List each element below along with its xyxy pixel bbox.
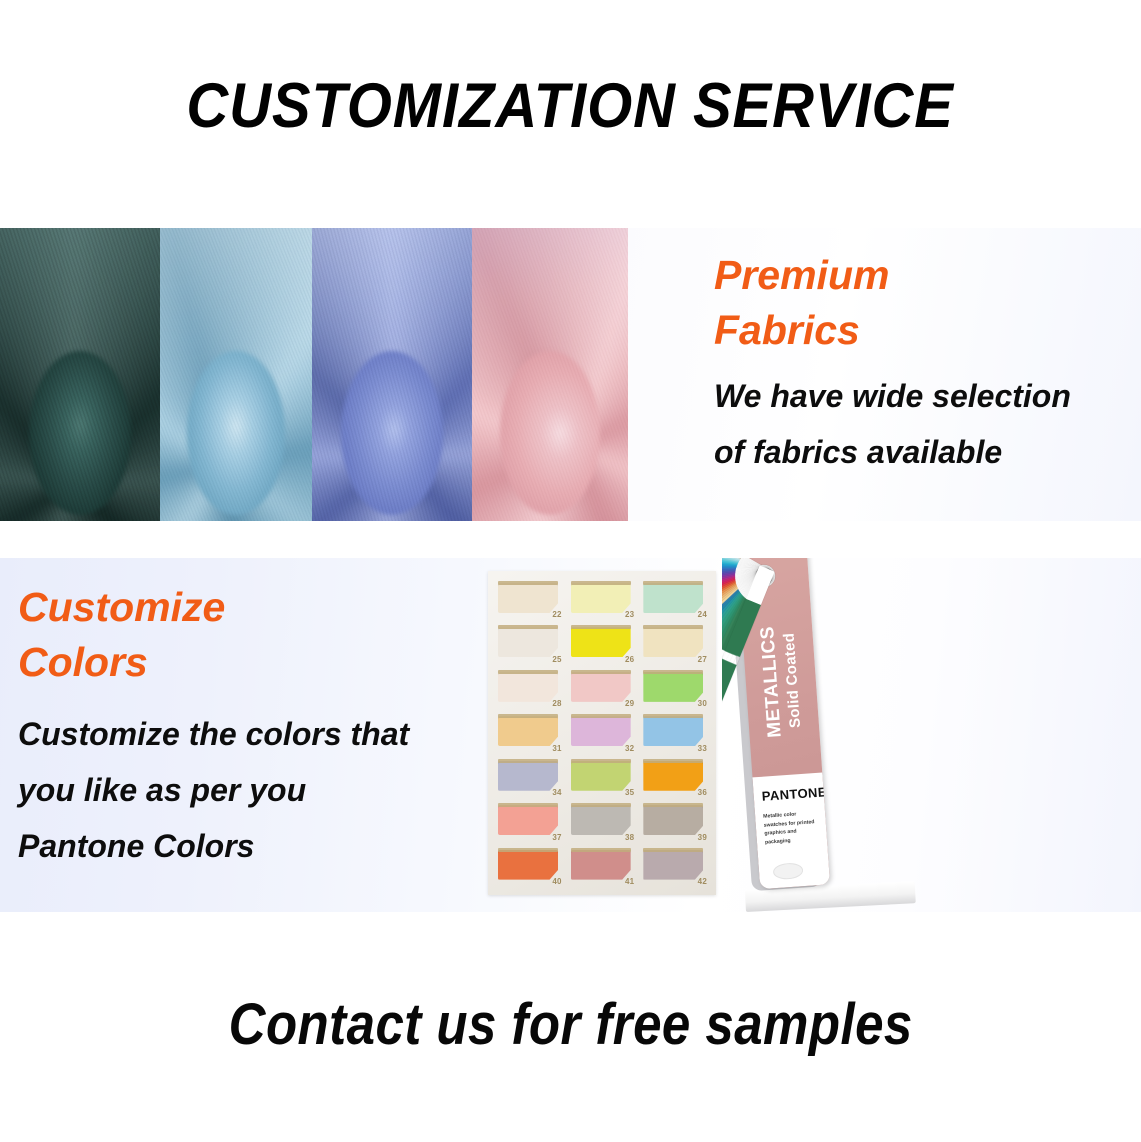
swatch-chip-color [498,627,558,657]
swatch-chip-tab [571,848,631,852]
swatch-chip-number: 32 [625,744,634,753]
fabric-swatch-periwinkle-blue-fabric [312,228,472,521]
swatch-chip-tab [498,581,558,585]
premium-fabrics-heading: Premium Fabrics [714,248,889,357]
swatch-chip-color [498,672,558,702]
swatch-chip-34: 34 [496,759,563,796]
customize-colors-body-line3: Pantone Colors [18,818,488,874]
footer-cta-text: Contact us for free samples [228,996,912,1054]
premium-fabrics-body-line1: We have wide selection [714,368,1126,424]
swatch-chip-26: 26 [569,625,636,662]
premium-fabrics-heading-line1: Premium [714,248,889,303]
swatch-chip-38: 38 [569,803,636,840]
swatch-chip-tab [643,670,703,674]
swatch-chip-tab [643,848,703,852]
pantone-wordmark: PANTONE [761,784,827,804]
fabric-swirl-texture [0,228,160,521]
swatch-chip-23: 23 [569,581,636,618]
swatch-chip-color [498,850,558,880]
swatch-chip-40: 40 [496,848,563,885]
swatch-chip-color [643,716,703,746]
customize-colors-heading-line1: Customize [18,580,225,635]
fan-cover-vertical-title: METALLICS Solid Coated [757,624,805,738]
pantone-color-swatch-card: 2223242526272829303132333435363738394041… [488,571,716,895]
footer-cta: Contact us for free samples [0,985,1141,1065]
swatch-chip-color [571,716,631,746]
fabric-swatch-dusty-pink-fabric [472,228,628,521]
swatch-chip-tab [571,759,631,763]
swatch-chip-color [643,627,703,657]
swatch-chip-32: 32 [569,714,636,751]
swatch-chip-color [571,583,631,613]
swatch-chip-29: 29 [569,670,636,707]
swatch-chip-color [498,805,558,835]
swatch-chip-39: 39 [641,803,708,840]
swatch-chip-tab [643,759,703,763]
fan-cover-subtext: Metallic color swatches for printed grap… [763,809,819,847]
swatch-chip-color [498,583,558,613]
fabric-swatch-light-sky-blue-fabric [160,228,312,521]
swatch-chip-28: 28 [496,670,563,707]
swatch-chip-number: 27 [698,655,707,664]
swatch-chip-tab [571,581,631,585]
swatch-chip-31: 31 [496,714,563,751]
swatch-chip-22: 22 [496,581,563,618]
swatch-chip-tab [643,714,703,718]
customize-colors-body-line2: you like as per you [18,762,488,818]
swatch-chip-42: 42 [641,848,708,885]
fabric-weave-layer [472,228,628,521]
swatch-chip-number: 30 [698,699,707,708]
swatch-chip-color [571,761,631,791]
swatch-chip-number: 35 [625,788,634,797]
swatch-chip-number: 34 [552,788,561,797]
customize-colors-body-line1: Customize the colors that [18,706,488,762]
swatch-chip-tab [571,670,631,674]
swatch-chip-color [643,761,703,791]
swatch-chip-color [498,761,558,791]
fan-cover-white-footer: PANTONE® Metallic color swatches for pri… [752,773,830,890]
fan-cover-thumb-notch [773,862,804,880]
swatch-chip-number: 42 [698,877,707,886]
swatch-chip-color [498,716,558,746]
swatch-chip-tab [571,714,631,718]
swatch-chip-color [643,583,703,613]
swatch-chip-number: 29 [625,699,634,708]
customize-colors-body: Customize the colors that you like as pe… [18,706,488,874]
swatch-chip-33: 33 [641,714,708,751]
swatch-chip-number: 25 [552,655,561,664]
swatch-chip-color [643,850,703,880]
fabric-weave-layer [0,228,160,521]
swatch-chip-25: 25 [496,625,563,662]
fabric-swatch-dark-teal-green-ribbed-fabric [0,228,160,521]
fabric-swirl-texture [312,228,472,521]
swatch-chip-37: 37 [496,803,563,840]
swatch-chip-number: 28 [552,699,561,708]
customize-colors-panel: Customize Colors Customize the colors th… [0,558,1141,912]
fabric-swatch-strip [0,228,628,521]
swatch-chip-tab [498,714,558,718]
customize-colors-heading-line2: Colors [18,635,225,690]
swatch-chip-number: 31 [552,744,561,753]
swatch-chip-36: 36 [641,759,708,796]
swatch-chip-color [643,805,703,835]
swatch-chip-tab [498,625,558,629]
premium-fabrics-text-block: Premium Fabrics We have wide selection o… [706,228,1126,521]
premium-fabrics-panel: Premium Fabrics We have wide selection o… [0,228,1141,521]
swatch-chip-tab [571,803,631,807]
swatch-chip-color [643,672,703,702]
fabric-swirl-texture [472,228,628,521]
swatch-chip-color [571,850,631,880]
swatch-chip-tab [498,803,558,807]
swatch-chip-41: 41 [569,848,636,885]
swatch-chip-color [571,627,631,657]
swatch-chip-tab [643,625,703,629]
swatch-chip-35: 35 [569,759,636,796]
premium-fabrics-body: We have wide selection of fabrics availa… [714,368,1126,480]
page-title-text: CUSTOMIZATION SERVICE [187,75,954,138]
swatch-chip-number: 40 [552,877,561,886]
customize-colors-heading: Customize Colors [18,580,225,689]
swatch-chip-number: 41 [625,877,634,886]
swatch-chip-tab [498,670,558,674]
swatch-chip-tab [498,848,558,852]
swatch-chip-color [571,672,631,702]
swatch-chip-number: 24 [698,610,707,619]
swatch-chip-tab [643,803,703,807]
swatch-chip-number: 22 [552,610,561,619]
swatch-chip-number: 38 [625,833,634,842]
premium-fabrics-heading-line2: Fabrics [714,303,889,358]
page-title: CUSTOMIZATION SERVICE [0,66,1141,146]
swatch-chip-tab [643,581,703,585]
swatch-chip-24: 24 [641,581,708,618]
swatch-chip-tab [571,625,631,629]
pantone-logo: PANTONE® [761,784,830,804]
swatch-chip-number: 39 [698,833,707,842]
swatch-chip-number: 33 [698,744,707,753]
premium-fabrics-body-line2: of fabrics available [714,424,1126,480]
fabric-weave-layer [312,228,472,521]
pantone-metallics-fan-deck: METALLICS METALLICS Solid Coated PANTONE… [722,558,1141,912]
swatch-chip-color [571,805,631,835]
fabric-swirl-texture [160,228,312,521]
swatch-chip-number: 23 [625,610,634,619]
swatch-chip-number: 26 [625,655,634,664]
swatch-chip-number: 36 [698,788,707,797]
swatch-chip-number: 37 [552,833,561,842]
fabric-weave-layer [160,228,312,521]
swatch-chip-30: 30 [641,670,708,707]
swatch-chip-27: 27 [641,625,708,662]
swatch-chip-tab [498,759,558,763]
